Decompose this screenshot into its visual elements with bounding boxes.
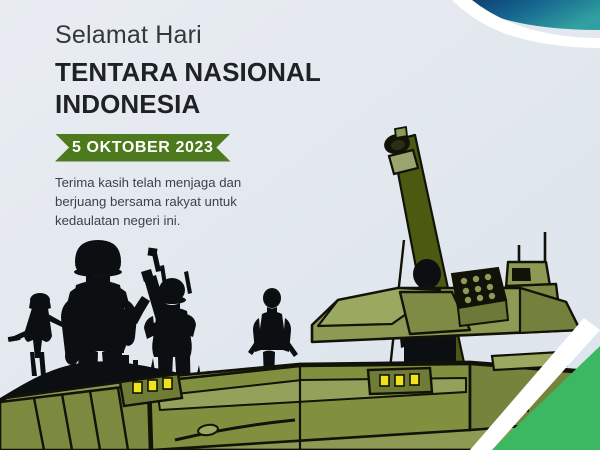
headlight-lamp xyxy=(133,382,142,393)
date-badge: 5 OKTOBER 2023 xyxy=(55,134,231,162)
smoke-grenade-launcher xyxy=(452,268,508,326)
greeting-text: Selamat Hari xyxy=(55,22,355,50)
date-badge-wrapper: 5 OKTOBER 2023 xyxy=(55,121,355,162)
headlight-lamp xyxy=(380,375,389,386)
poster-canvas: Selamat Hari TENTARA NASIONAL INDONESIA … xyxy=(0,0,600,450)
text-content-block: Selamat Hari TENTARA NASIONAL INDONESIA … xyxy=(55,22,355,230)
headlight-lamp xyxy=(148,380,157,391)
muzzle-reference-sight xyxy=(395,127,407,138)
tank-headlight-right xyxy=(368,368,432,394)
headlight-lamp xyxy=(395,375,404,386)
headline-line-2: INDONESIA xyxy=(55,89,200,119)
page-title: TENTARA NASIONAL INDONESIA xyxy=(55,56,355,121)
headlight-lamp xyxy=(410,374,419,385)
cupola-hatch-shadow xyxy=(512,268,531,281)
headlight-lamp xyxy=(163,378,172,389)
headline-line-1: TENTARA NASIONAL xyxy=(55,57,321,87)
body-paragraph: Terima kasih telah menjaga dan berjuang … xyxy=(55,173,287,231)
